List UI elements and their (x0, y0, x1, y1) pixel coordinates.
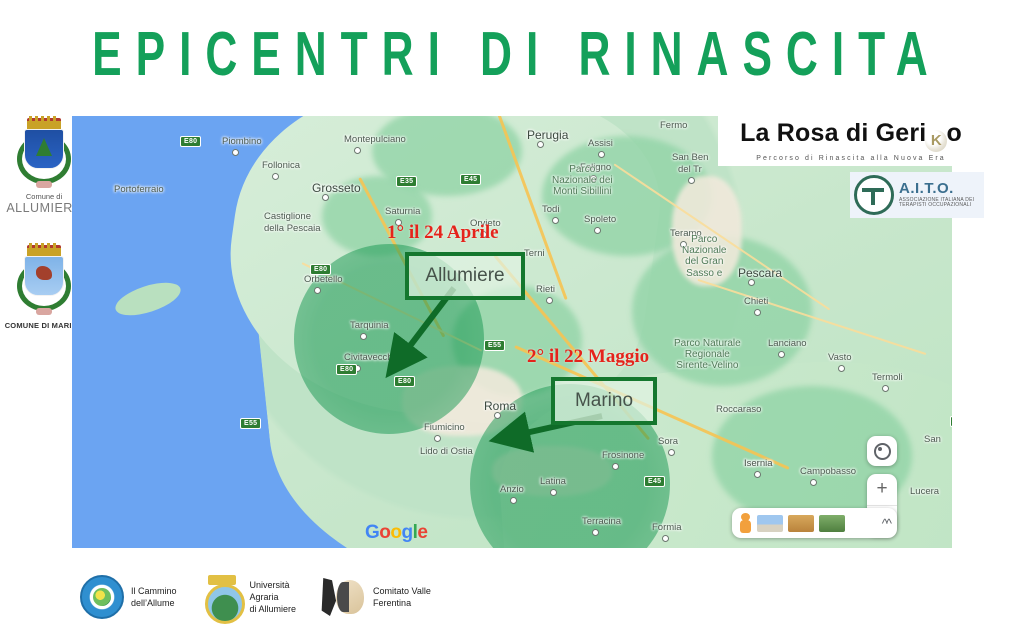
note-allumiere-date: 1° il 24 Aprile (387, 222, 499, 244)
street-view-pegman-icon[interactable] (739, 513, 752, 534)
map-label: Fiumicino (424, 422, 465, 433)
locate-button[interactable] (867, 436, 897, 466)
universita-caption: Università Agraria di Allumiere (250, 579, 297, 615)
map-label: Isernia (744, 458, 773, 469)
map-label: Lido di Ostia (420, 446, 473, 457)
map-label: Chieti (744, 296, 768, 307)
universita-caption-line2: Agraria (250, 591, 297, 603)
map-place-dot (748, 279, 755, 286)
layer-thumb-default[interactable] (757, 515, 783, 532)
cammino-caption-line1: Il Cammino (131, 585, 177, 597)
map-road-shield: E55 (950, 416, 952, 427)
map-place-dot (354, 147, 361, 154)
map-place-dot (434, 435, 441, 442)
map-place-dot (550, 489, 557, 496)
map-road-shield: E55 (240, 418, 261, 429)
map-park-label: ParcoNazionale deiMonti Sibillini (552, 164, 613, 198)
callout-marino-label: Marino (575, 390, 633, 412)
map-label: Sora (658, 436, 678, 447)
map-place-dot (668, 449, 675, 456)
comitato-caption-line1: Comitato Valle (373, 585, 431, 597)
google-letter: e (417, 522, 427, 543)
map-place-dot (662, 535, 669, 542)
map-label: Campobasso (800, 466, 856, 477)
universita-emblem-icon (201, 575, 243, 619)
map-place-dot (810, 479, 817, 486)
map-label: Frosinone (602, 450, 644, 461)
map-label: Castiglione (264, 211, 311, 222)
map-label: Fermo (660, 120, 687, 131)
aito-text-block: A.I.T.O. ASSOCIAZIONE ITALIANA DEI TERAP… (899, 181, 974, 209)
map-label: Formia (652, 522, 682, 533)
map-label: Saturnia (385, 206, 420, 217)
google-logo-watermark[interactable]: Google (365, 522, 427, 544)
rosa-name-part1: La Rosa di Geri (740, 119, 926, 147)
universita-caption-line1: Università (250, 579, 297, 591)
google-map[interactable]: PiombinoFollonicaPortoferraioGrossetoCas… (72, 116, 952, 548)
rosa-seal-icon: K (925, 130, 947, 152)
map-label: Orbetello (304, 274, 343, 285)
map-place-dot (360, 333, 367, 340)
rosa-di-gerico-name: La Rosa di GeriKo (740, 121, 962, 152)
map-place-dot (754, 471, 761, 478)
map-label: San (924, 434, 941, 445)
google-letter: o (390, 522, 401, 543)
map-park-label: Parco NaturaleRegionaleSirente-Velino (674, 338, 741, 372)
map-place-dot (778, 351, 785, 358)
aito-mark-icon (854, 175, 894, 215)
map-place-dot (612, 463, 619, 470)
google-letter: G (365, 522, 379, 543)
cammino-caption-line2: dell’Allume (131, 597, 177, 609)
google-letter: o (379, 522, 390, 543)
map-road-shield: E80 (180, 136, 201, 147)
map-place-dot (494, 412, 501, 419)
map-place-dot (838, 365, 845, 372)
map-place-dot (594, 227, 601, 234)
map-label: Grosseto (312, 181, 361, 195)
cammino-caption: Il Cammino dell’Allume (131, 585, 177, 609)
map-label: Spoleto (584, 214, 616, 225)
map-label: Termoli (872, 372, 903, 383)
map-place-dot (322, 194, 329, 201)
marino-crest-icon (16, 245, 72, 317)
logo-aito: A.I.T.O. ASSOCIAZIONE ITALIANA DEI TERAP… (850, 172, 984, 218)
logo-la-rosa-di-gerico: La Rosa di GeriKo Percorso di Rinascita … (718, 116, 984, 166)
map-label: Tarquinia (350, 320, 389, 331)
map-island-elba (112, 276, 185, 322)
expand-chevron-up-icon[interactable]: ^^ (882, 516, 890, 531)
map-road-shield: E80 (394, 376, 415, 387)
map-place-dot (882, 385, 889, 392)
map-label: Roma (484, 399, 516, 413)
comitato-emblem-icon (320, 576, 366, 618)
map-layers-bar[interactable]: ^^ (732, 508, 897, 538)
rosa-di-gerico-tagline: Percorso di Rinascita alla Nuova Era (756, 155, 946, 162)
map-place-dot (592, 529, 599, 536)
map-label: Roccaraso (716, 404, 761, 415)
map-label: della Pescaia (264, 223, 321, 234)
map-place-dot (232, 149, 239, 156)
map-place-dot (510, 497, 517, 504)
map-label: Follonica (262, 160, 300, 171)
map-label: Vasto (828, 352, 852, 363)
rosa-name-part2: o (946, 119, 961, 147)
map-label: Piombino (222, 136, 262, 147)
map-label: del Tr (678, 164, 702, 175)
zoom-in-button[interactable]: + (867, 474, 897, 506)
locate-icon (874, 443, 891, 460)
cammino-emblem-icon (80, 575, 124, 619)
logo-universita-agraria-di-allumiere: Università Agraria di Allumiere (201, 575, 297, 619)
layer-thumb-satellite[interactable] (819, 515, 845, 532)
map-place-dot (688, 177, 695, 184)
map-label: Lucera (910, 486, 939, 497)
comitato-caption-line2: Ferentina (373, 597, 431, 609)
map-label: Civitavecchia (344, 352, 400, 363)
map-road-shield: E45 (460, 174, 481, 185)
map-label: Todi (542, 204, 559, 215)
map-place-dot (754, 309, 761, 316)
aito-title: A.I.T.O. (899, 181, 974, 198)
page-title: EPICENTRI DI RINASCITA (92, 22, 932, 87)
map-label: Terni (524, 248, 545, 259)
map-place-dot (552, 217, 559, 224)
map-place-dot (546, 297, 553, 304)
map-place-dot (314, 287, 321, 294)
footer-logo-bar: Il Cammino dell’Allume Università Agrari… (80, 568, 500, 626)
logo-il-cammino-dell-allume: Il Cammino dell’Allume (80, 575, 177, 619)
allumiere-crest-icon (16, 118, 72, 190)
map-place-dot (272, 173, 279, 180)
map-label: Lanciano (768, 338, 807, 349)
map-label: Assisi (588, 138, 613, 149)
universita-caption-line3: di Allumiere (250, 603, 297, 615)
logo-comitato-valle-ferentina: Comitato Valle Ferentina (320, 576, 431, 618)
callout-marino[interactable]: Marino (551, 377, 657, 425)
map-label: San Ben (672, 152, 708, 163)
callout-allumiere[interactable]: Allumiere (405, 252, 525, 300)
map-road-shield: E55 (484, 340, 505, 351)
map-label: Rieti (536, 284, 555, 295)
map-label: Portoferraio (114, 184, 164, 195)
comitato-caption: Comitato Valle Ferentina (373, 585, 431, 609)
note-marino-date: 2° il 22 Maggio (527, 346, 649, 368)
callout-allumiere-label: Allumiere (425, 265, 504, 287)
map-label: Montepulciano (344, 134, 406, 145)
map-park-label: ParcoNazionaledel GranSasso e (682, 234, 726, 279)
map-label: Anzio (500, 484, 524, 495)
map-place-dot (537, 141, 544, 148)
map-label: Perugia (527, 128, 568, 142)
map-label: Pescara (738, 266, 782, 280)
map-road-shield: E45 (644, 476, 665, 487)
aito-subtitle-line2: TERAPISTI OCCUPAZIONALI (899, 203, 974, 209)
layer-thumb-terrain[interactable] (788, 515, 814, 532)
map-place-dot (598, 151, 605, 158)
map-road-shield: E80 (336, 364, 357, 375)
google-letter: g (402, 522, 413, 543)
map-label: Terracina (582, 516, 621, 527)
map-road-shield: E80 (310, 264, 331, 275)
map-label: Latina (540, 476, 566, 487)
map-road-shield: E35 (396, 176, 417, 187)
